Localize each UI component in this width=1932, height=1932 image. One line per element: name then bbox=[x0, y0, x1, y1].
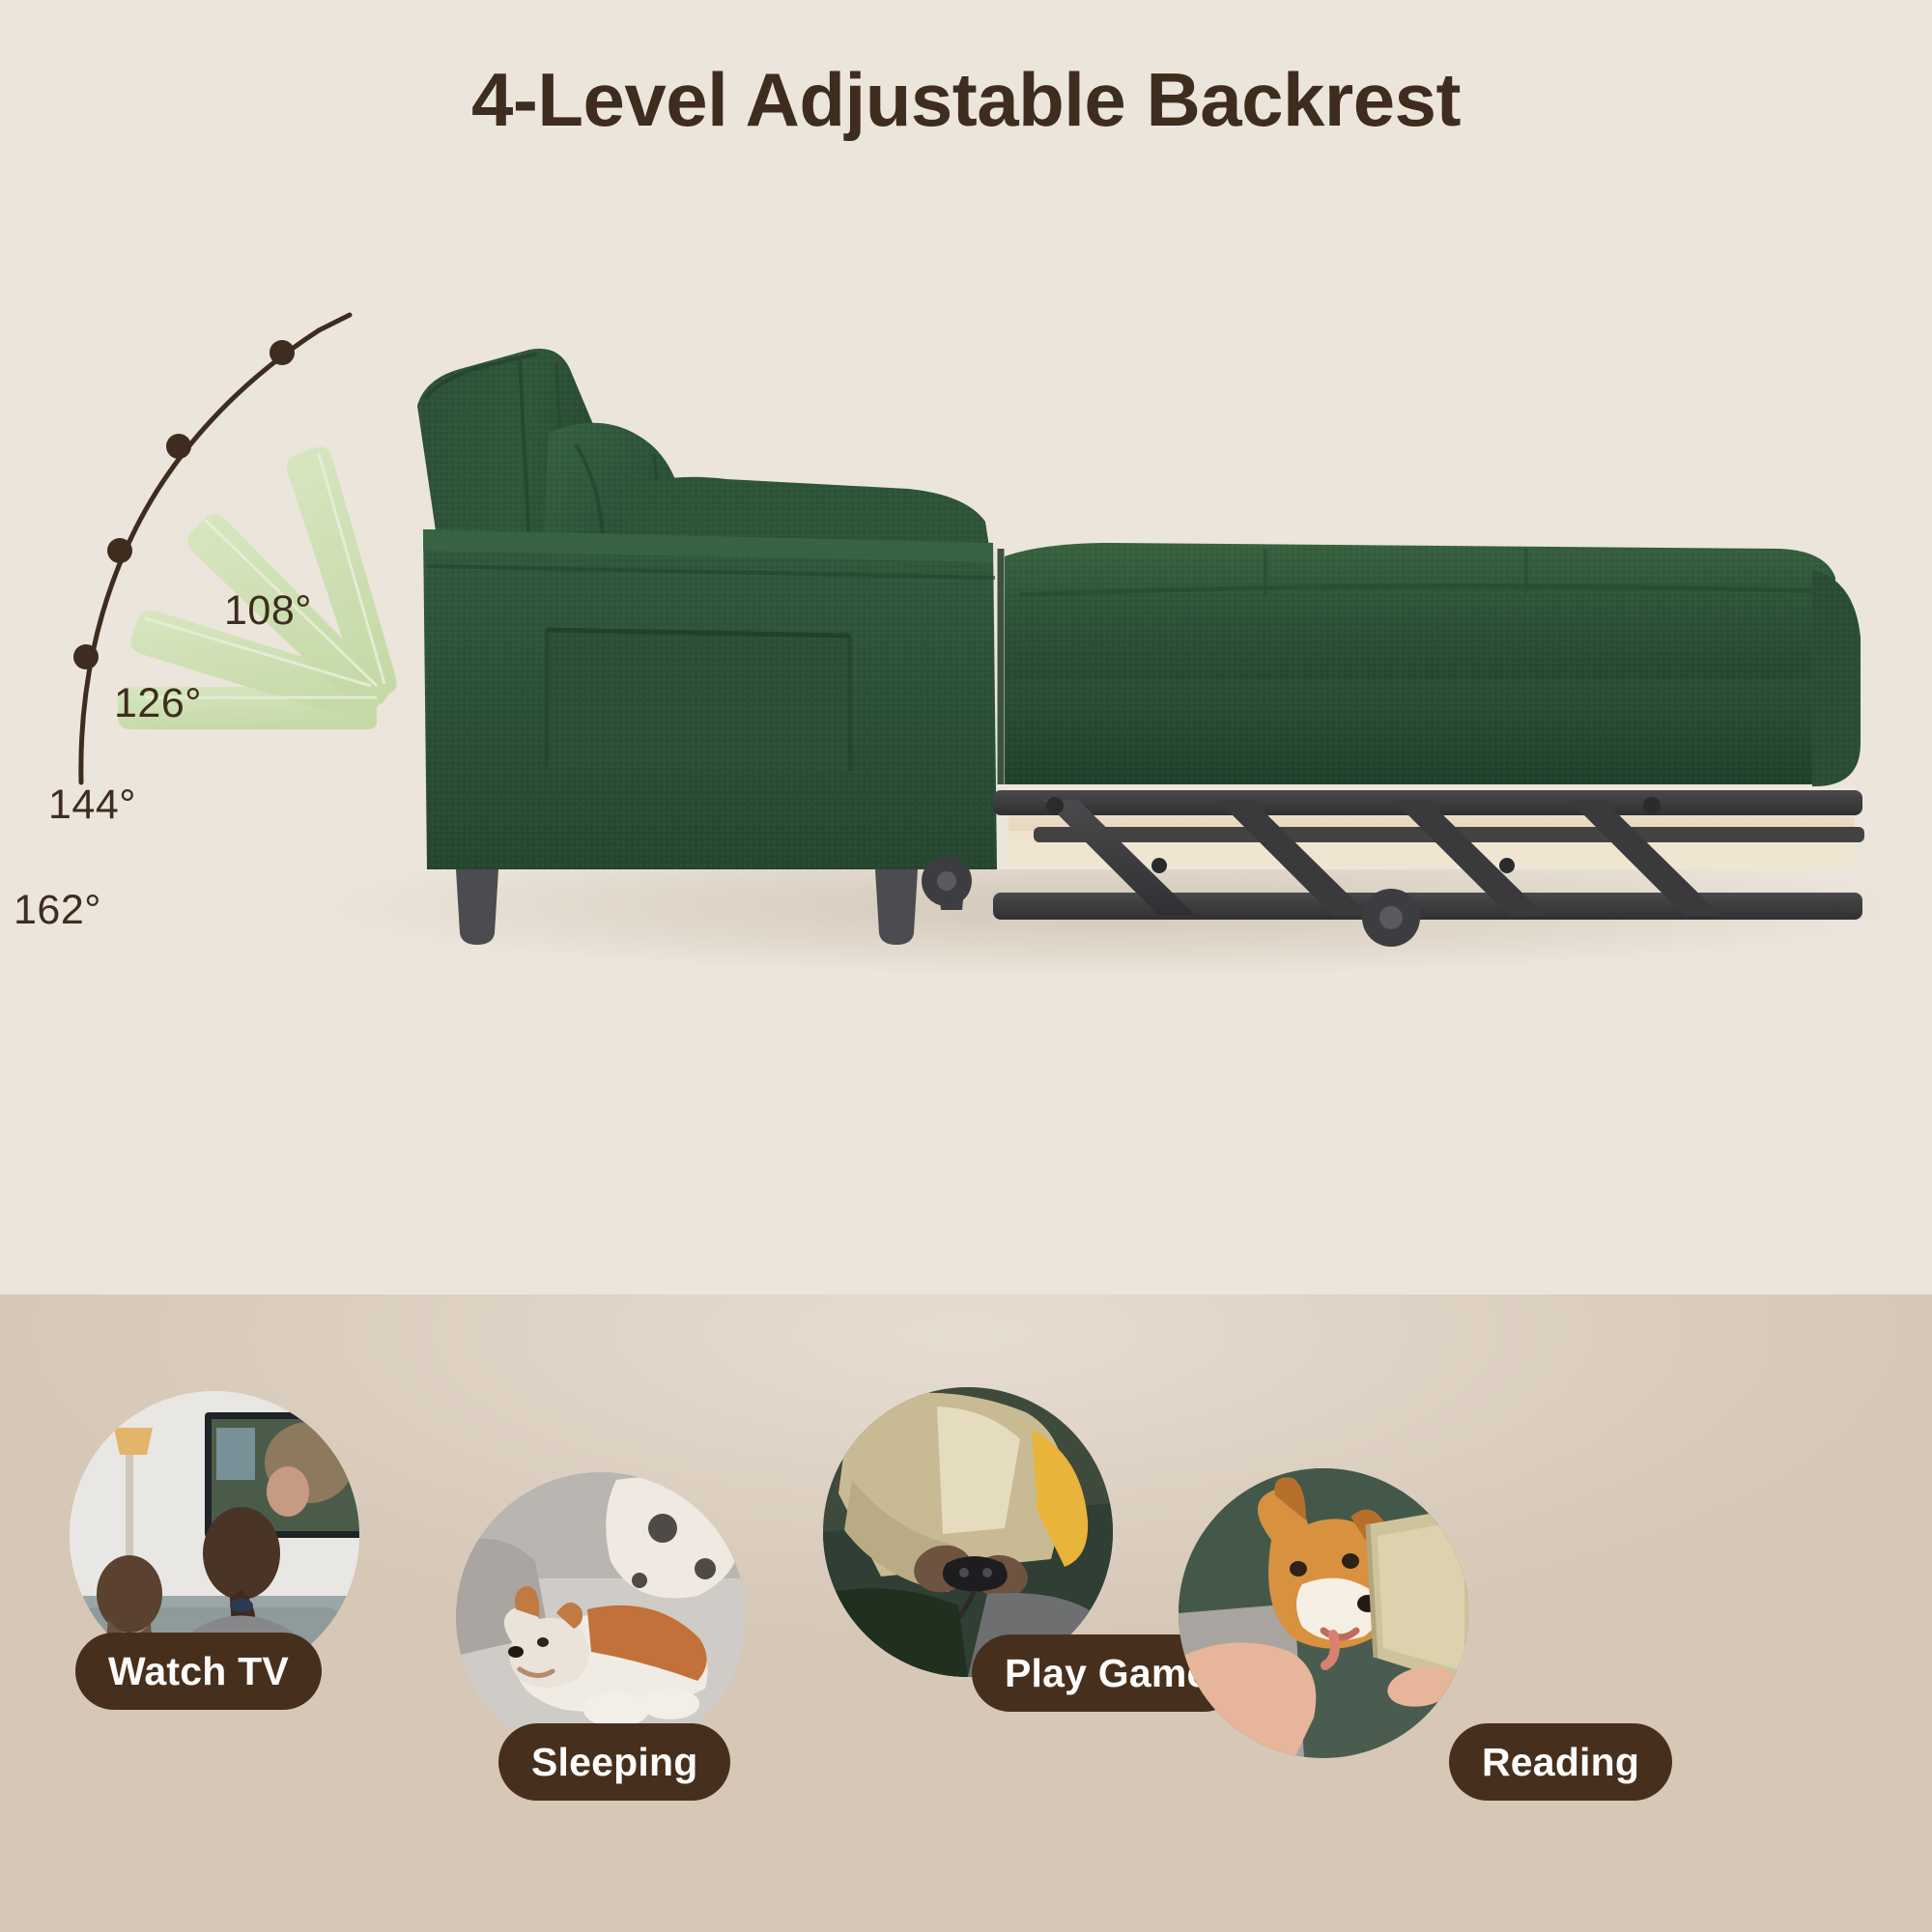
angle-label-144: 144° bbox=[48, 781, 136, 829]
side-pocket bbox=[547, 630, 850, 771]
use-case-label-reading[interactable]: Reading bbox=[1449, 1723, 1672, 1801]
angle-dot-144 bbox=[107, 538, 132, 563]
use-case-photo-sleeping bbox=[456, 1472, 746, 1762]
infographic-page: 4-Level Adjustable Backrest bbox=[0, 0, 1932, 1932]
angle-label-126: 126° bbox=[114, 680, 202, 727]
angle-dot-162 bbox=[73, 644, 99, 669]
angle-dot-126 bbox=[166, 434, 191, 459]
use-case-photo-reading bbox=[1179, 1468, 1468, 1758]
leg-front-right bbox=[875, 869, 918, 945]
angle-dot-108 bbox=[270, 340, 295, 365]
sofa-illustration bbox=[367, 290, 1893, 956]
page-title: 4-Level Adjustable Backrest bbox=[0, 56, 1932, 144]
bed-cushion bbox=[1001, 543, 1861, 786]
use-case-section: Watch TV bbox=[0, 1294, 1932, 1932]
angle-label-162: 162° bbox=[14, 887, 101, 934]
leg-front-left bbox=[456, 869, 498, 945]
use-case-photo-play-game bbox=[823, 1387, 1113, 1677]
use-case-label-sleeping[interactable]: Sleeping bbox=[498, 1723, 730, 1801]
angle-label-108: 108° bbox=[224, 587, 312, 635]
use-case-label-watch-tv[interactable]: Watch TV bbox=[75, 1633, 322, 1710]
angle-arc-top-tick bbox=[319, 315, 350, 330]
top-section: 4-Level Adjustable Backrest bbox=[0, 0, 1932, 1294]
use-case-reading[interactable]: Reading bbox=[1159, 1294, 1932, 1932]
use-case-watch-tv[interactable]: Watch TV bbox=[0, 1294, 464, 1932]
sofa-legs bbox=[456, 869, 966, 945]
